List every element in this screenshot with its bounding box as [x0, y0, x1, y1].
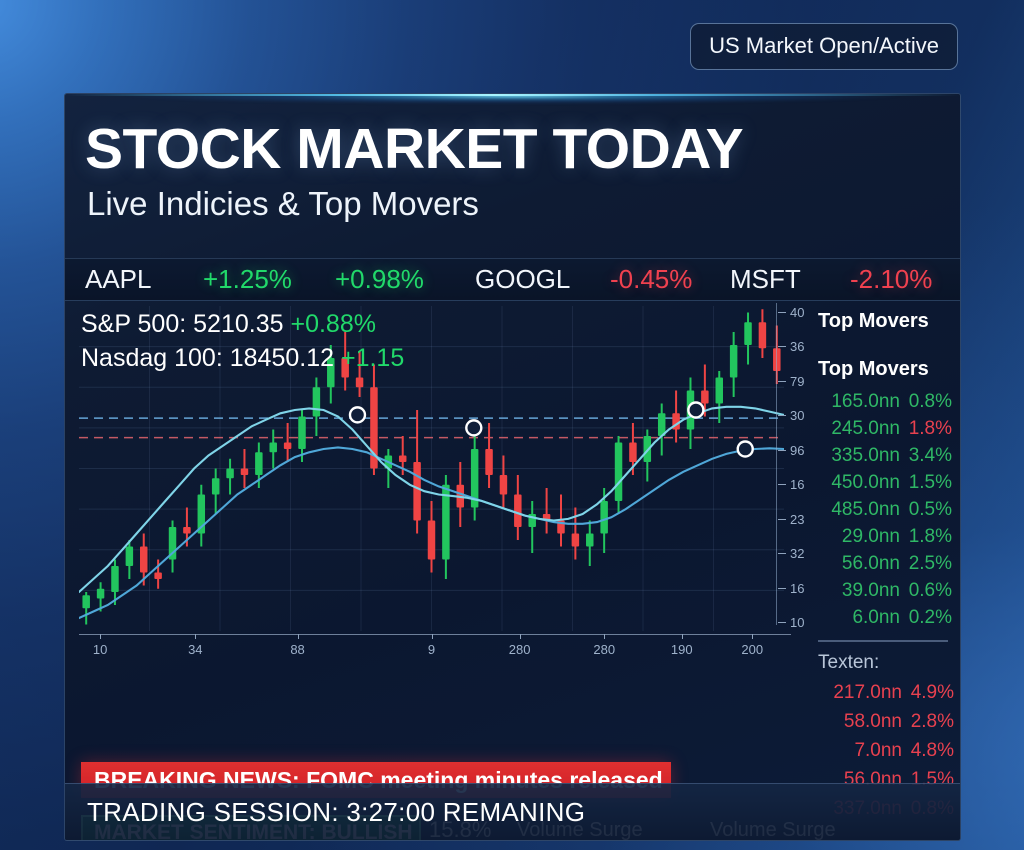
top-movers-list-heading: Top Movers — [818, 358, 929, 381]
top-mover-row[interactable]: 56.0nn2.5% — [816, 553, 952, 575]
top-mover-row[interactable]: 450.0nn1.5% — [816, 472, 952, 494]
x-tick-label: 200 — [741, 642, 763, 657]
y-tick-label: 96 — [790, 443, 804, 458]
y-tick-mark — [778, 450, 786, 451]
y-tick-label: 10 — [790, 615, 804, 630]
candlestick-chart[interactable] — [79, 306, 784, 631]
y-tick-mark — [778, 622, 786, 623]
y-tick-label: 36 — [790, 339, 804, 354]
top-mover-pct: 0.6% — [902, 580, 952, 602]
ticker-item-1[interactable]: +1.25% — [203, 264, 292, 295]
y-tick-label: 16 — [790, 477, 804, 492]
texten-heading: Texten: — [818, 652, 879, 674]
y-tick-label: 79 — [790, 374, 804, 389]
top-mover-pct: 3.4% — [902, 445, 952, 467]
top-mover-value: 485.0nn — [816, 499, 900, 521]
texten-row[interactable]: 217.0nn4.9% — [814, 682, 954, 704]
market-status-badge[interactable]: US Market Open/Active — [690, 23, 958, 70]
x-tick-label: 10 — [93, 642, 107, 657]
top-movers-panel: Top Movers Top Movers 165.0nn0.8%245.0nn… — [810, 301, 961, 801]
chart-x-axis: 1034889280280190200 — [79, 634, 791, 664]
ticker-item-3[interactable]: GOOGL — [475, 264, 570, 295]
top-mover-value: 165.0nn — [816, 391, 900, 413]
ticker-bar[interactable]: AAPL+1.25%+0.98%GOOGL-0.45%MSFT-2.10% — [65, 258, 960, 301]
top-mover-value: 335.0nn — [816, 445, 900, 467]
x-tick-mark — [752, 634, 753, 639]
texten-row[interactable]: 7.0nn4.8% — [814, 740, 954, 762]
y-tick-mark — [778, 312, 786, 313]
texten-value: 58.0nn — [814, 711, 902, 733]
texten-value: 217.0nn — [814, 682, 902, 704]
y-tick-label: 30 — [790, 408, 804, 423]
y-tick-label: 23 — [790, 512, 804, 527]
x-tick-mark — [682, 634, 683, 639]
top-mover-pct: 0.8% — [902, 391, 952, 413]
texten-value: 7.0nn — [814, 740, 902, 762]
top-mover-pct: 0.2% — [902, 607, 952, 629]
x-tick-mark — [432, 634, 433, 639]
top-mover-pct: 1.8% — [902, 526, 952, 548]
texten-pct: 4.8% — [902, 740, 954, 762]
ticker-item-4[interactable]: -0.45% — [610, 264, 692, 295]
top-mover-row[interactable]: 6.0nn0.2% — [816, 607, 952, 629]
x-tick-label: 88 — [290, 642, 304, 657]
x-tick-mark — [520, 634, 521, 639]
top-movers-heading: Top Movers — [818, 310, 929, 333]
chart-area: S&P 500: 5210.35 +0.88% Nasdag 100: 1845… — [65, 301, 960, 841]
ticker-item-2[interactable]: +0.98% — [335, 264, 424, 295]
top-mover-pct: 0.5% — [902, 499, 952, 521]
y-tick-label: 32 — [790, 546, 804, 561]
ticker-item-5[interactable]: MSFT — [730, 264, 801, 295]
x-tick-label: 280 — [509, 642, 531, 657]
top-mover-value: 29.0nn — [816, 526, 900, 548]
y-tick-mark — [778, 381, 786, 382]
y-tick-mark — [778, 346, 786, 347]
top-mover-value: 39.0nn — [816, 580, 900, 602]
x-tick-mark — [604, 634, 605, 639]
top-mover-pct: 2.5% — [902, 553, 952, 575]
top-mover-value: 6.0nn — [816, 607, 900, 629]
panel-divider — [818, 640, 948, 642]
texten-row[interactable]: 58.0nn2.8% — [814, 711, 954, 733]
x-tick-mark — [195, 634, 196, 639]
x-tick-mark — [100, 634, 101, 639]
x-tick-label: 9 — [428, 642, 435, 657]
y-tick-label: 40 — [790, 305, 804, 320]
texten-pct: 2.8% — [902, 711, 954, 733]
x-axis-line — [79, 634, 791, 635]
top-mover-row[interactable]: 335.0nn3.4% — [816, 445, 952, 467]
trading-session-text: TRADING SESSION: 3:27:00 REMANING — [87, 797, 585, 828]
ticker-item-0[interactable]: AAPL — [85, 264, 152, 295]
y-tick-mark — [778, 415, 786, 416]
y-tick-mark — [778, 588, 786, 589]
page-title: STOCK MARKET TODAY — [85, 116, 743, 182]
y-tick-mark — [778, 484, 786, 485]
dashboard-card: STOCK MARKET TODAY Live Indicies & Top M… — [64, 93, 961, 841]
top-mover-pct: 1.8% — [902, 418, 952, 440]
top-mover-row[interactable]: 29.0nn1.8% — [816, 526, 952, 548]
x-tick-label: 280 — [593, 642, 615, 657]
trading-session-footer: TRADING SESSION: 3:27:00 REMANING — [65, 783, 960, 840]
y-tick-mark — [778, 519, 786, 520]
top-mover-value: 245.0nn — [816, 418, 900, 440]
top-mover-pct: 1.5% — [902, 472, 952, 494]
top-mover-row[interactable]: 485.0nn0.5% — [816, 499, 952, 521]
ticker-item-6[interactable]: -2.10% — [850, 264, 932, 295]
x-tick-label: 34 — [188, 642, 202, 657]
page-subtitle: Live Indicies & Top Movers — [87, 185, 479, 223]
y-tick-label: 16 — [790, 581, 804, 596]
texten-pct: 4.9% — [902, 682, 954, 704]
top-mover-row[interactable]: 39.0nn0.6% — [816, 580, 952, 602]
x-tick-label: 190 — [671, 642, 693, 657]
y-tick-mark — [778, 553, 786, 554]
top-mover-value: 56.0nn — [816, 553, 900, 575]
y-axis-line — [776, 303, 777, 625]
x-tick-mark — [298, 634, 299, 639]
card-header: STOCK MARKET TODAY Live Indicies & Top M… — [65, 94, 960, 258]
top-mover-row[interactable]: 245.0nn1.8% — [816, 418, 952, 440]
top-mover-value: 450.0nn — [816, 472, 900, 494]
top-mover-row[interactable]: 165.0nn0.8% — [816, 391, 952, 413]
